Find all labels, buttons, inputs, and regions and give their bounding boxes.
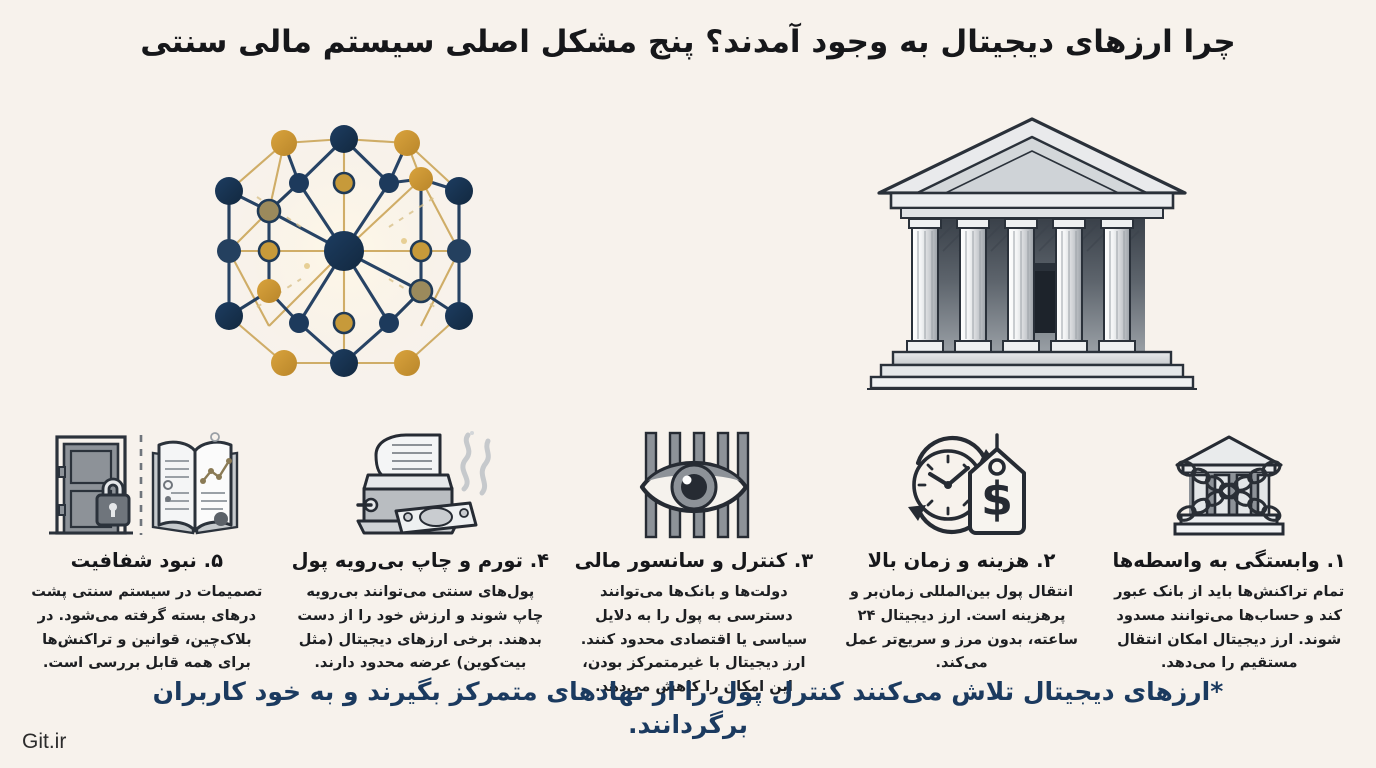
footer-note: *ارزهای دیجیتال تلاش می‌کنند کنترل پول ر… <box>0 675 1376 743</box>
locked-door-open-book-icon <box>49 424 245 546</box>
page-title: چرا ارزهای دیجیتال به وجود آمدند؟ پنج مش… <box>0 22 1376 64</box>
card-title-3: ۳. کنترل و سانسور مالی <box>575 548 813 573</box>
problem-card-5: ۵. نبود شفافیت تصمیمات در سیستم سنتی پشت… <box>14 424 280 704</box>
card-body-2: انتقال پول بین‌المللی زمان‌بر و پرهزینه … <box>839 580 1085 675</box>
svg-text:$: $ <box>981 472 1013 526</box>
problem-card-4: ۴. تورم و چاپ بی‌رویه پول پول‌های سنتی م… <box>282 424 559 704</box>
problem-card-2: $ ۲. هزینه و زمان بالا انتقال پول بین‌ال… <box>829 424 1095 704</box>
money-printer-icon <box>344 424 496 546</box>
problem-card-3: ۳. کنترل و سانسور مالی دولت‌ها و بانک‌ها… <box>561 424 827 704</box>
card-title-2: ۲. هزینه و زمان بالا <box>868 548 1056 573</box>
bank-building-illustration <box>867 101 1197 401</box>
card-body-4: پول‌های سنتی می‌توانند بی‌رویه چاپ شوند … <box>295 580 545 675</box>
card-title-1: ۱. وابستگی به واسطه‌ها <box>1112 548 1345 573</box>
chained-bank-icon <box>1163 424 1295 546</box>
hero-network-half <box>0 96 688 406</box>
watermark: Git.ir <box>22 730 66 754</box>
clock-price-tag-icon: $ <box>892 424 1032 546</box>
hero-section <box>0 96 1376 406</box>
card-body-5: تصمیمات در سیستم سنتی پشت درهای بسته گرف… <box>24 580 270 675</box>
eye-behind-bars-icon <box>628 424 760 546</box>
card-title-5: ۵. نبود شفافیت <box>71 548 223 573</box>
infographic-page: چرا ارزهای دیجیتال به وجود آمدند؟ پنج مش… <box>0 0 1376 768</box>
card-body-1: تمام تراکنش‌ها باید از بانک عبور کند و ح… <box>1106 580 1352 675</box>
problem-cards-row: ۱. وابستگی به واسطه‌ها تمام تراکنش‌ها با… <box>14 424 1362 704</box>
decentralized-network-illustration <box>189 101 499 401</box>
problem-card-1: ۱. وابستگی به واسطه‌ها تمام تراکنش‌ها با… <box>1096 424 1362 704</box>
card-title-4: ۴. تورم و چاپ بی‌رویه پول <box>292 548 549 573</box>
hero-bank-half <box>688 96 1376 406</box>
